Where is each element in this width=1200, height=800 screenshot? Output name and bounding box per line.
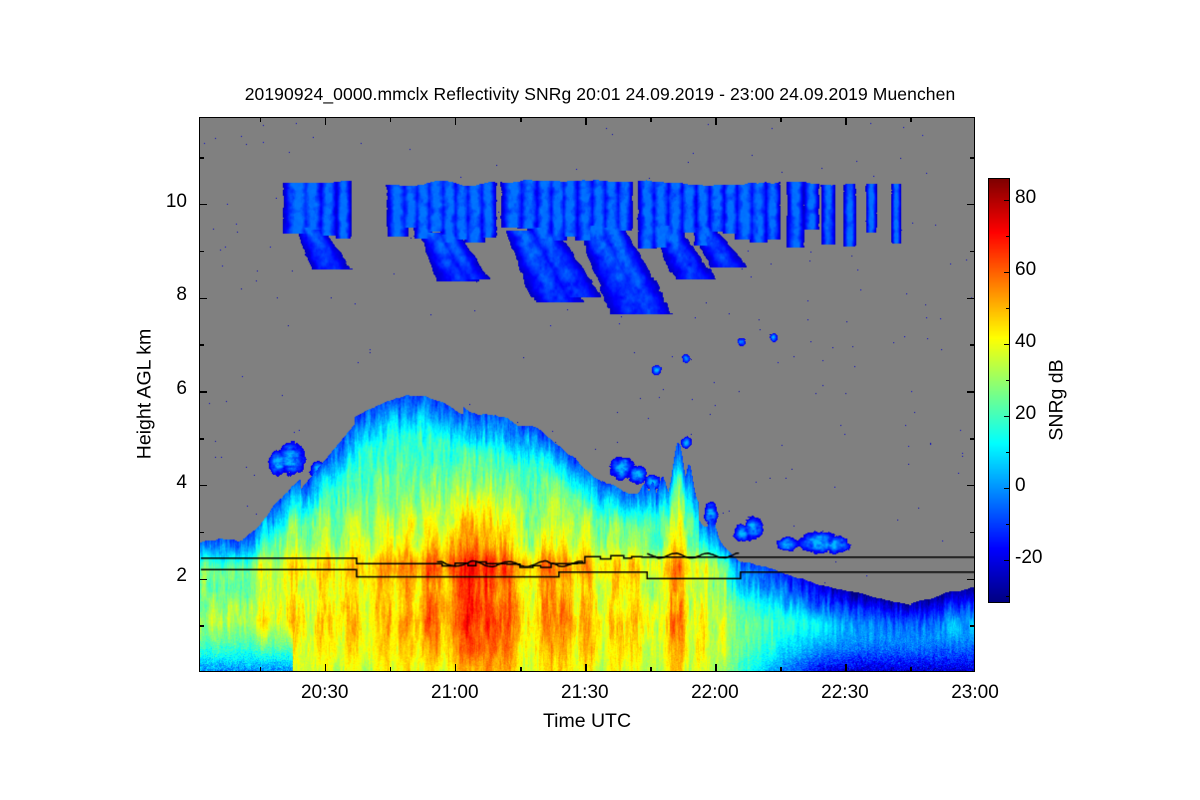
y-tick-major (200, 204, 207, 205)
y-tick-minor-right (970, 251, 974, 252)
colorbar-tick-minor (1006, 596, 1009, 597)
colorbar-tick (1004, 344, 1009, 345)
x-tick-major-top (585, 118, 586, 125)
x-tick-major (715, 664, 716, 671)
colorbar (988, 178, 1010, 603)
x-tick-major (325, 664, 326, 671)
x-axis-label: Time UTC (543, 710, 631, 733)
colorbar-tick-minor (1006, 524, 1009, 525)
y-tick-minor-right (970, 438, 974, 439)
y-tick-minor (200, 344, 204, 345)
x-tick-minor-top (260, 118, 261, 122)
colorbar-label: SNRg dB (1046, 359, 1069, 440)
x-tick-label: 22:30 (785, 682, 905, 704)
y-tick-major-right (967, 391, 974, 392)
x-tick-minor-top (780, 118, 781, 122)
y-tick-major-right (967, 298, 974, 299)
y-tick-major (200, 485, 207, 486)
y-tick-label: 2 (127, 565, 187, 587)
colorbar-tick (1004, 272, 1009, 273)
page-title: 20190924_0000.mmclx Reflectivity SNRg 20… (0, 84, 1200, 105)
y-tick-label: 10 (127, 191, 187, 213)
colorbar-tick-label: 60 (1015, 259, 1036, 281)
x-tick-minor (910, 667, 911, 671)
y-tick-label: 8 (127, 284, 187, 306)
y-tick-major-right (967, 485, 974, 486)
time-height-plot-area (199, 117, 975, 672)
colorbar-tick-label: 20 (1015, 403, 1036, 425)
x-tick-minor (390, 667, 391, 671)
y-tick-minor (200, 532, 204, 533)
colorbar-tick (1004, 416, 1009, 417)
colorbar-tick (1004, 200, 1009, 201)
x-tick-major (455, 664, 456, 671)
x-tick-minor-top (650, 118, 651, 122)
x-tick-minor-top (520, 118, 521, 122)
y-tick-minor (200, 157, 204, 158)
y-tick-major-right (967, 204, 974, 205)
x-tick-minor (520, 667, 521, 671)
colorbar-tick-minor (1006, 452, 1009, 453)
x-tick-label: 23:00 (915, 682, 1035, 704)
colorbar-tick (1004, 560, 1009, 561)
x-tick-major (585, 664, 586, 671)
colorbar-tick-label: 80 (1015, 187, 1036, 209)
x-tick-minor-top (910, 118, 911, 122)
y-tick-minor (200, 625, 204, 626)
y-axis-label: Height AGL km (134, 329, 157, 459)
y-tick-minor-right (970, 344, 974, 345)
x-tick-label: 21:30 (525, 682, 645, 704)
colorbar-tick-minor (1006, 308, 1009, 309)
colorbar-tick (1004, 488, 1009, 489)
x-tick-major-top (715, 118, 716, 125)
x-tick-minor-top (390, 118, 391, 122)
y-tick-major-right (967, 579, 974, 580)
y-tick-minor (200, 251, 204, 252)
reflectivity-heatmap (200, 118, 974, 671)
x-tick-minor (260, 667, 261, 671)
y-tick-major (200, 391, 207, 392)
radar-figure: 20190924_0000.mmclx Reflectivity SNRg 20… (0, 0, 1200, 800)
colorbar-tick-minor (1006, 380, 1009, 381)
x-tick-label: 21:00 (395, 682, 515, 704)
y-tick-label: 4 (127, 472, 187, 494)
y-tick-minor (200, 438, 204, 439)
x-tick-label: 22:00 (655, 682, 775, 704)
x-tick-major-top (455, 118, 456, 125)
colorbar-gradient (989, 179, 1009, 602)
x-tick-label: 20:30 (265, 682, 385, 704)
x-tick-major-top (325, 118, 326, 125)
y-tick-minor-right (970, 532, 974, 533)
x-tick-minor (780, 667, 781, 671)
colorbar-tick-label: -20 (1015, 547, 1042, 569)
x-tick-major-top (845, 118, 846, 125)
y-tick-major (200, 579, 207, 580)
y-tick-major (200, 298, 207, 299)
x-tick-major (845, 664, 846, 671)
y-tick-minor-right (970, 625, 974, 626)
colorbar-tick-minor (1006, 236, 1009, 237)
colorbar-tick-label: 40 (1015, 331, 1036, 353)
colorbar-tick-label: 0 (1015, 475, 1026, 497)
x-tick-minor (650, 667, 651, 671)
y-tick-minor-right (970, 157, 974, 158)
